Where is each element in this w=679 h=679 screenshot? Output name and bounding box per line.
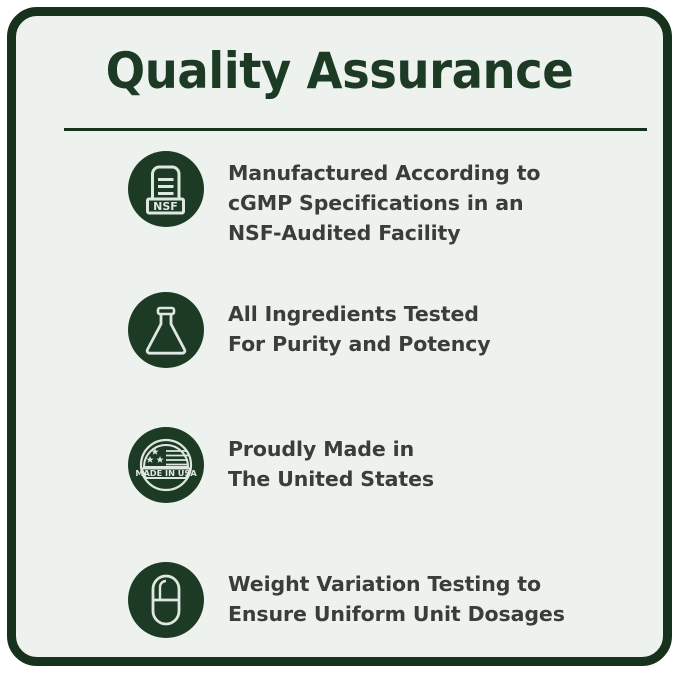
list-item-line: Weight Variation Testing to — [228, 569, 673, 599]
list-item-text: All Ingredients Tested For Purity and Po… — [228, 290, 673, 359]
list-item: NSF Manufactured According to cGMP Speci… — [128, 149, 673, 248]
list-item-line: Proudly Made in — [228, 434, 673, 464]
list-item-line: All Ingredients Tested — [228, 299, 673, 329]
list-item: MADE IN USA Proudly Made in The United S… — [128, 425, 673, 503]
list-item-line: Ensure Uniform Unit Dosages — [228, 599, 673, 629]
list-item-line: cGMP Specifications in an — [228, 188, 673, 218]
page-title: Quality Assurance — [39, 40, 641, 102]
list-item: Weight Variation Testing to Ensure Unifo… — [128, 560, 673, 638]
made-in-usa-icon-label: MADE IN USA — [135, 468, 197, 478]
flask-icon — [128, 292, 204, 368]
list-item-line: Manufactured According to — [228, 158, 673, 188]
list-item-text: Weight Variation Testing to Ensure Unifo… — [228, 560, 673, 629]
made-in-usa-badge-icon: MADE IN USA — [128, 427, 204, 503]
list-item-text: Proudly Made in The United States — [228, 425, 673, 494]
capsule-pill-icon — [128, 562, 204, 638]
list-item: All Ingredients Tested For Purity and Po… — [128, 290, 673, 368]
nsf-document-icon: NSF — [128, 151, 204, 227]
list-item-line: NSF-Audited Facility — [228, 218, 673, 248]
list-item-line: For Purity and Potency — [228, 329, 673, 359]
quality-assurance-card: Quality Assurance NSF Manufactured Accor… — [7, 7, 672, 666]
list-item-text: Manufactured According to cGMP Specifica… — [228, 149, 673, 248]
title-divider — [64, 128, 647, 131]
list-item-line: The United States — [228, 464, 673, 494]
nsf-icon-label: NSF — [153, 200, 178, 213]
